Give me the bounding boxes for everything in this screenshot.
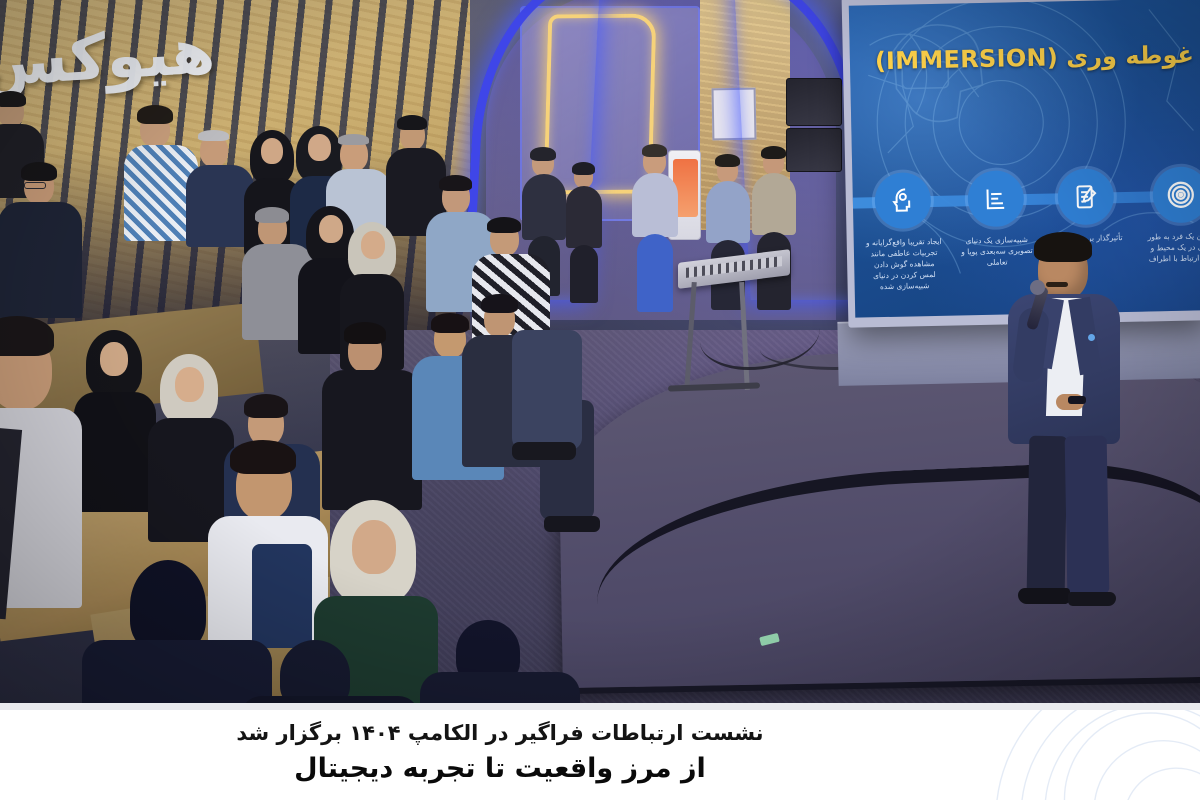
event-photograph: هیوکس — [0, 0, 1200, 703]
presenter-leg-left — [1027, 436, 1068, 597]
caption-headline: از مرز واقعیت تا تجربه دیجیتال — [180, 750, 820, 788]
wall-signage-text: هیوکس — [8, 12, 217, 103]
presenter-leg-right — [1065, 436, 1110, 595]
speaker-cabinet-lower — [786, 128, 842, 172]
audience-shoe — [544, 516, 600, 532]
audience-shoe — [512, 442, 576, 460]
microphone-head — [1030, 280, 1045, 295]
presenter-lapel-pin — [1088, 334, 1095, 341]
caption-text-block: نشست ارتباطات فراگیر در الکامپ ۱۴۰۴ برگز… — [180, 718, 820, 788]
presentation-screen: غوطه وری (IMMERSION) — [849, 0, 1200, 318]
caption-kicker: نشست ارتباطات فراگیر در الکامپ ۱۴۰۴ برگز… — [180, 718, 820, 748]
caption-band: نشست ارتباطات فراگیر در الکامپ ۱۴۰۴ برگز… — [0, 703, 1200, 800]
slide-caption-2: شبیه‌سازی یک دنیای تصویری سه‌بعدی پویا و… — [958, 234, 1037, 269]
audience-vest — [252, 544, 312, 648]
news-photo-card: هیوکس — [0, 0, 1200, 800]
eyeglasses-icon — [24, 182, 46, 189]
presenter-shoe-left — [1018, 588, 1070, 604]
slide-caption-1: ایجاد تقریبا واقع‌گرایانه و تجربیات عاطف… — [865, 236, 944, 293]
brand-arc-watermark-icon — [920, 703, 1200, 800]
presenter-shoe-right — [1068, 592, 1116, 606]
speaker-cabinet-upper — [786, 78, 842, 126]
presentation-clicker — [1068, 396, 1086, 404]
slide-caption-4: گرفتن یک فرد به طور کامل در یک محیط و قط… — [1143, 230, 1200, 265]
presenter-moustache — [1046, 282, 1068, 287]
